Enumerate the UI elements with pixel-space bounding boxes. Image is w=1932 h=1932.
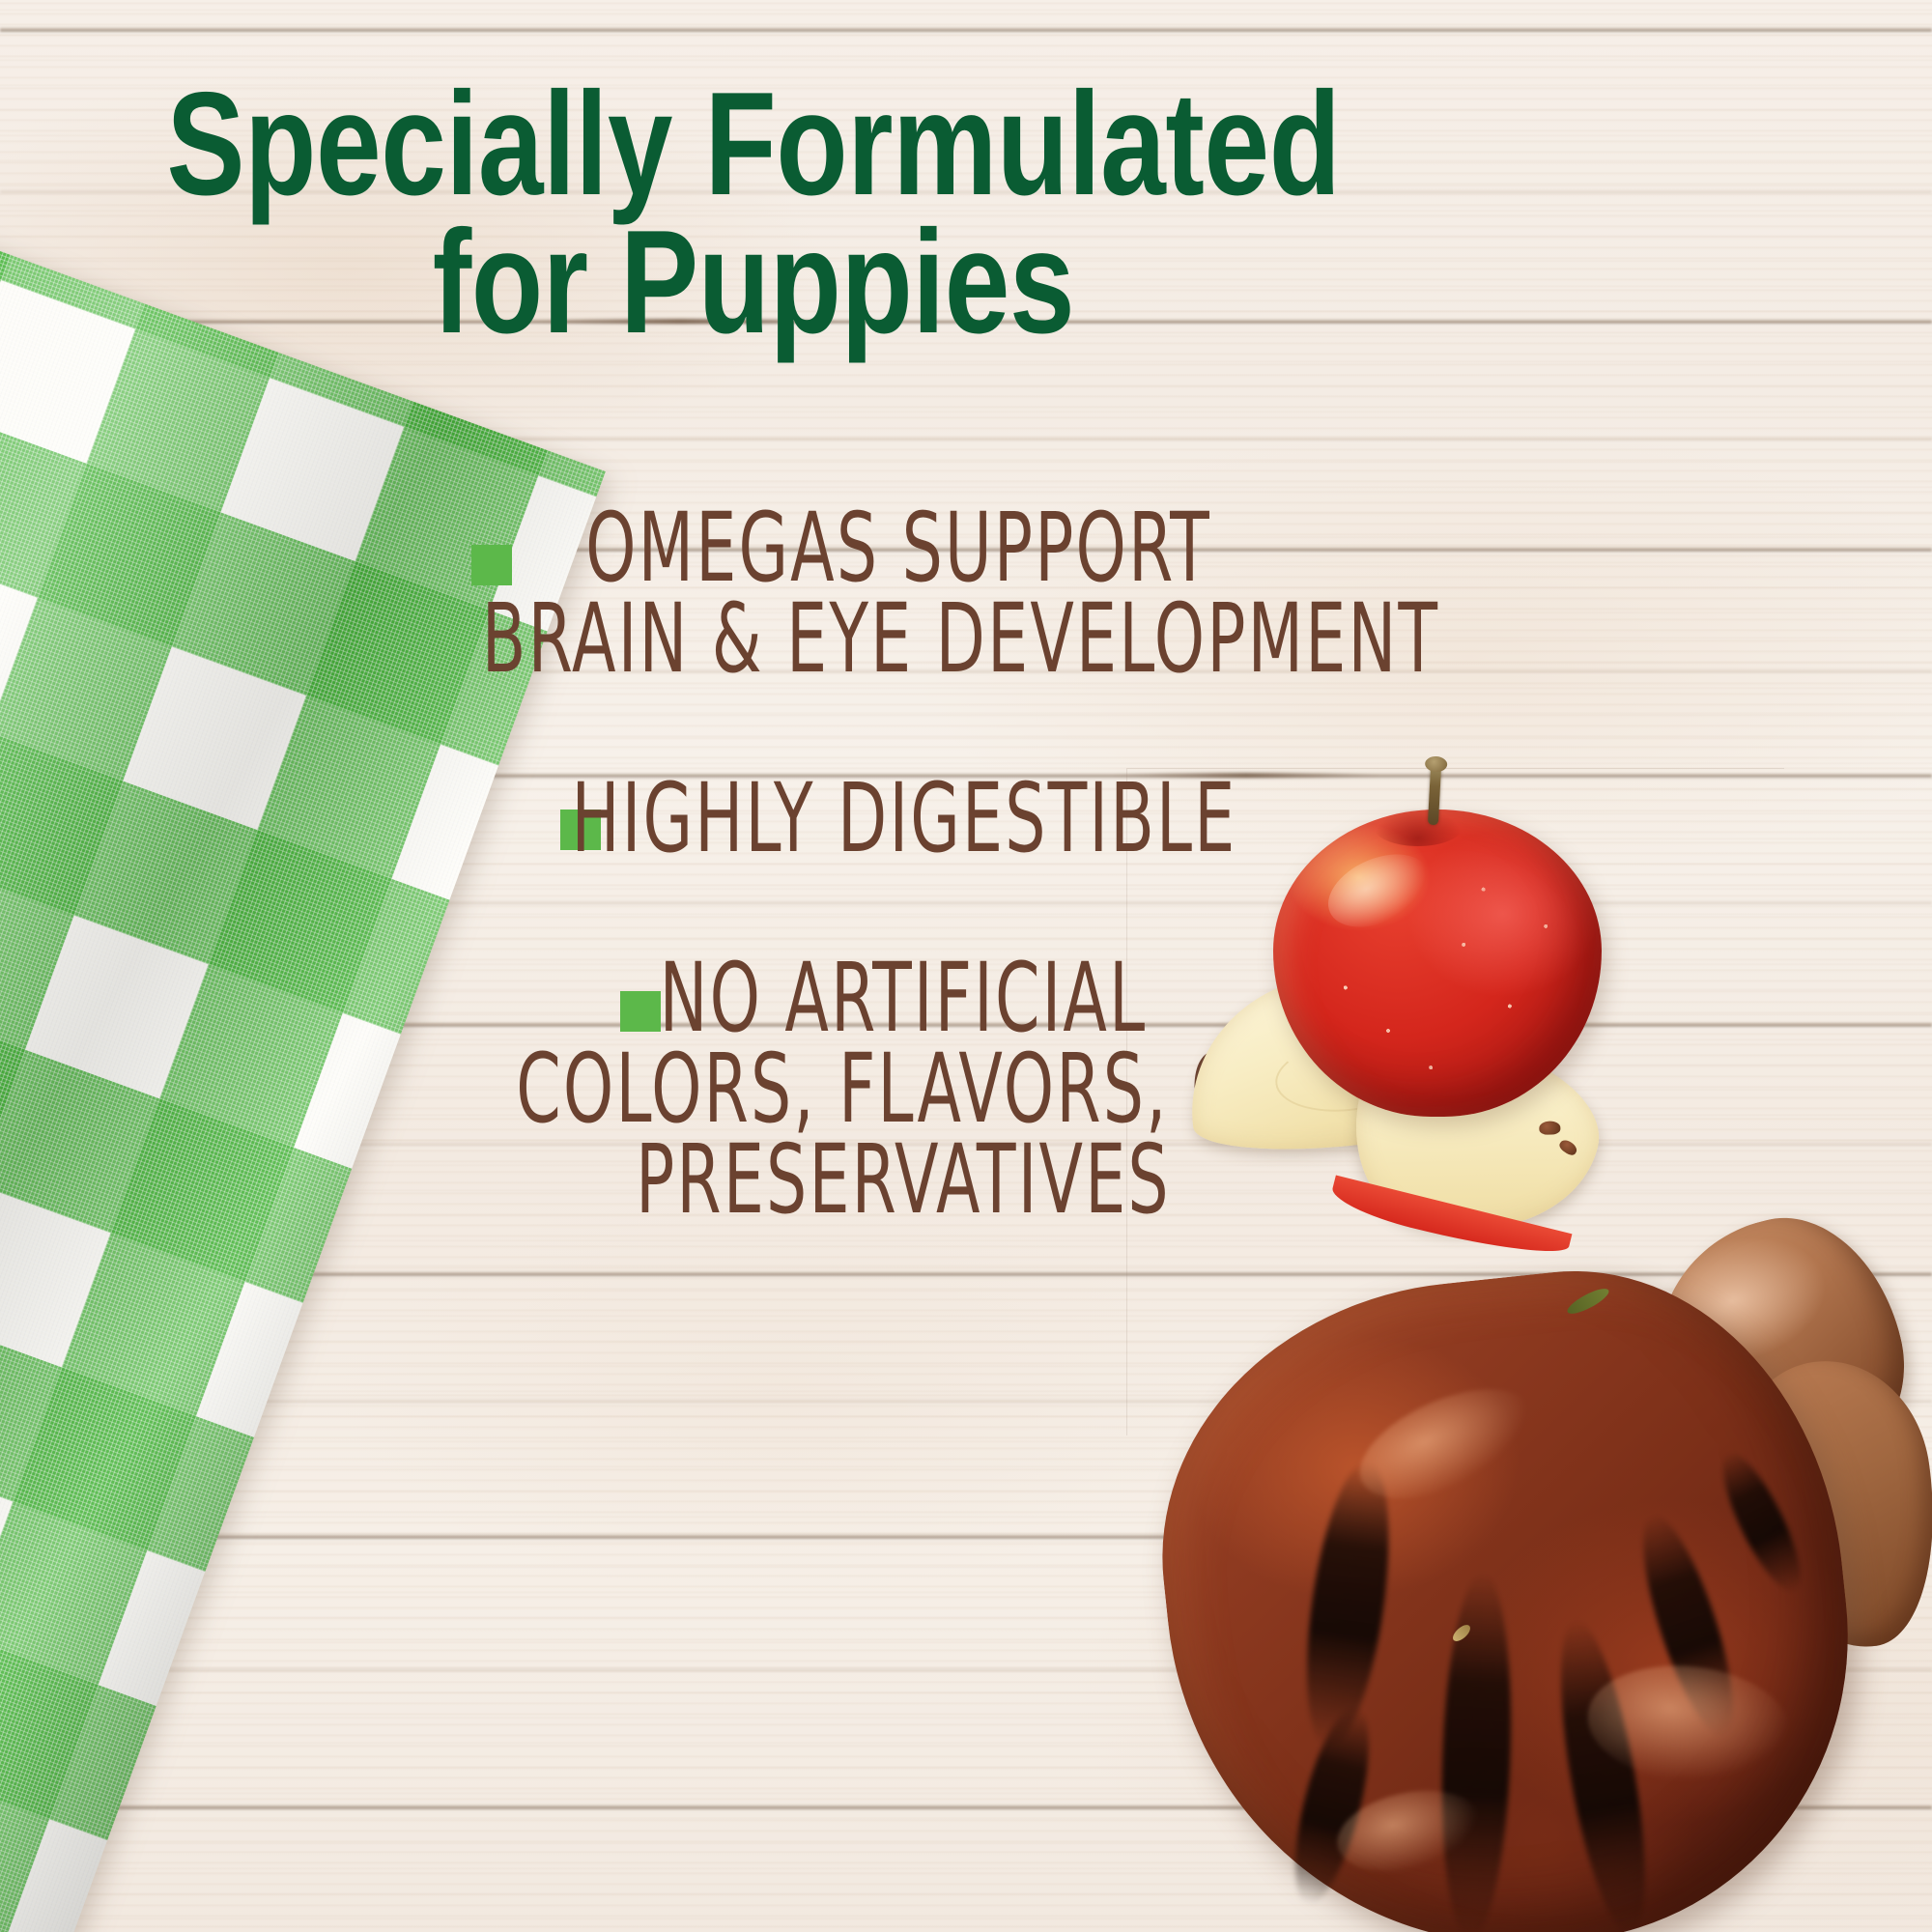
list-item: HIGHLY DIGESTIBLE [367, 773, 1372, 864]
grilled-pork-chop-image [1111, 1215, 1932, 1932]
apple-seed [1557, 1138, 1578, 1158]
red-apple-image [1273, 810, 1602, 1117]
apple-stem-dimple [1374, 808, 1463, 846]
bullet-line: HIGHLY DIGESTIBLE [493, 765, 1316, 872]
headline-line-2: for Puppies [151, 213, 1356, 352]
page-title: Specially Formulated for Puppies [0, 75, 1507, 352]
product-feature-panel: Specially Formulated for Puppies OMEGAS … [0, 0, 1932, 1932]
bullet-line: BRAIN & EYE DEVELOPMENT [482, 585, 1315, 693]
grill-mark [1709, 1443, 1815, 1601]
list-item: OMEGAS SUPPORT BRAIN & EYE DEVELOPMENT [367, 502, 1372, 684]
apple-speckles [1273, 810, 1602, 1117]
bullet-text: OMEGAS SUPPORT BRAIN & EYE DEVELOPMENT [367, 502, 1372, 684]
feature-bullet-list: OMEGAS SUPPORT BRAIN & EYE DEVELOPMENT H… [367, 502, 1372, 1314]
plank-seam [0, 27, 1932, 34]
apple-seed [1539, 1121, 1560, 1135]
headline-line-1: Specially Formulated [151, 75, 1356, 213]
bullet-text: HIGHLY DIGESTIBLE [367, 773, 1372, 864]
grill-mark [1436, 1572, 1517, 1932]
